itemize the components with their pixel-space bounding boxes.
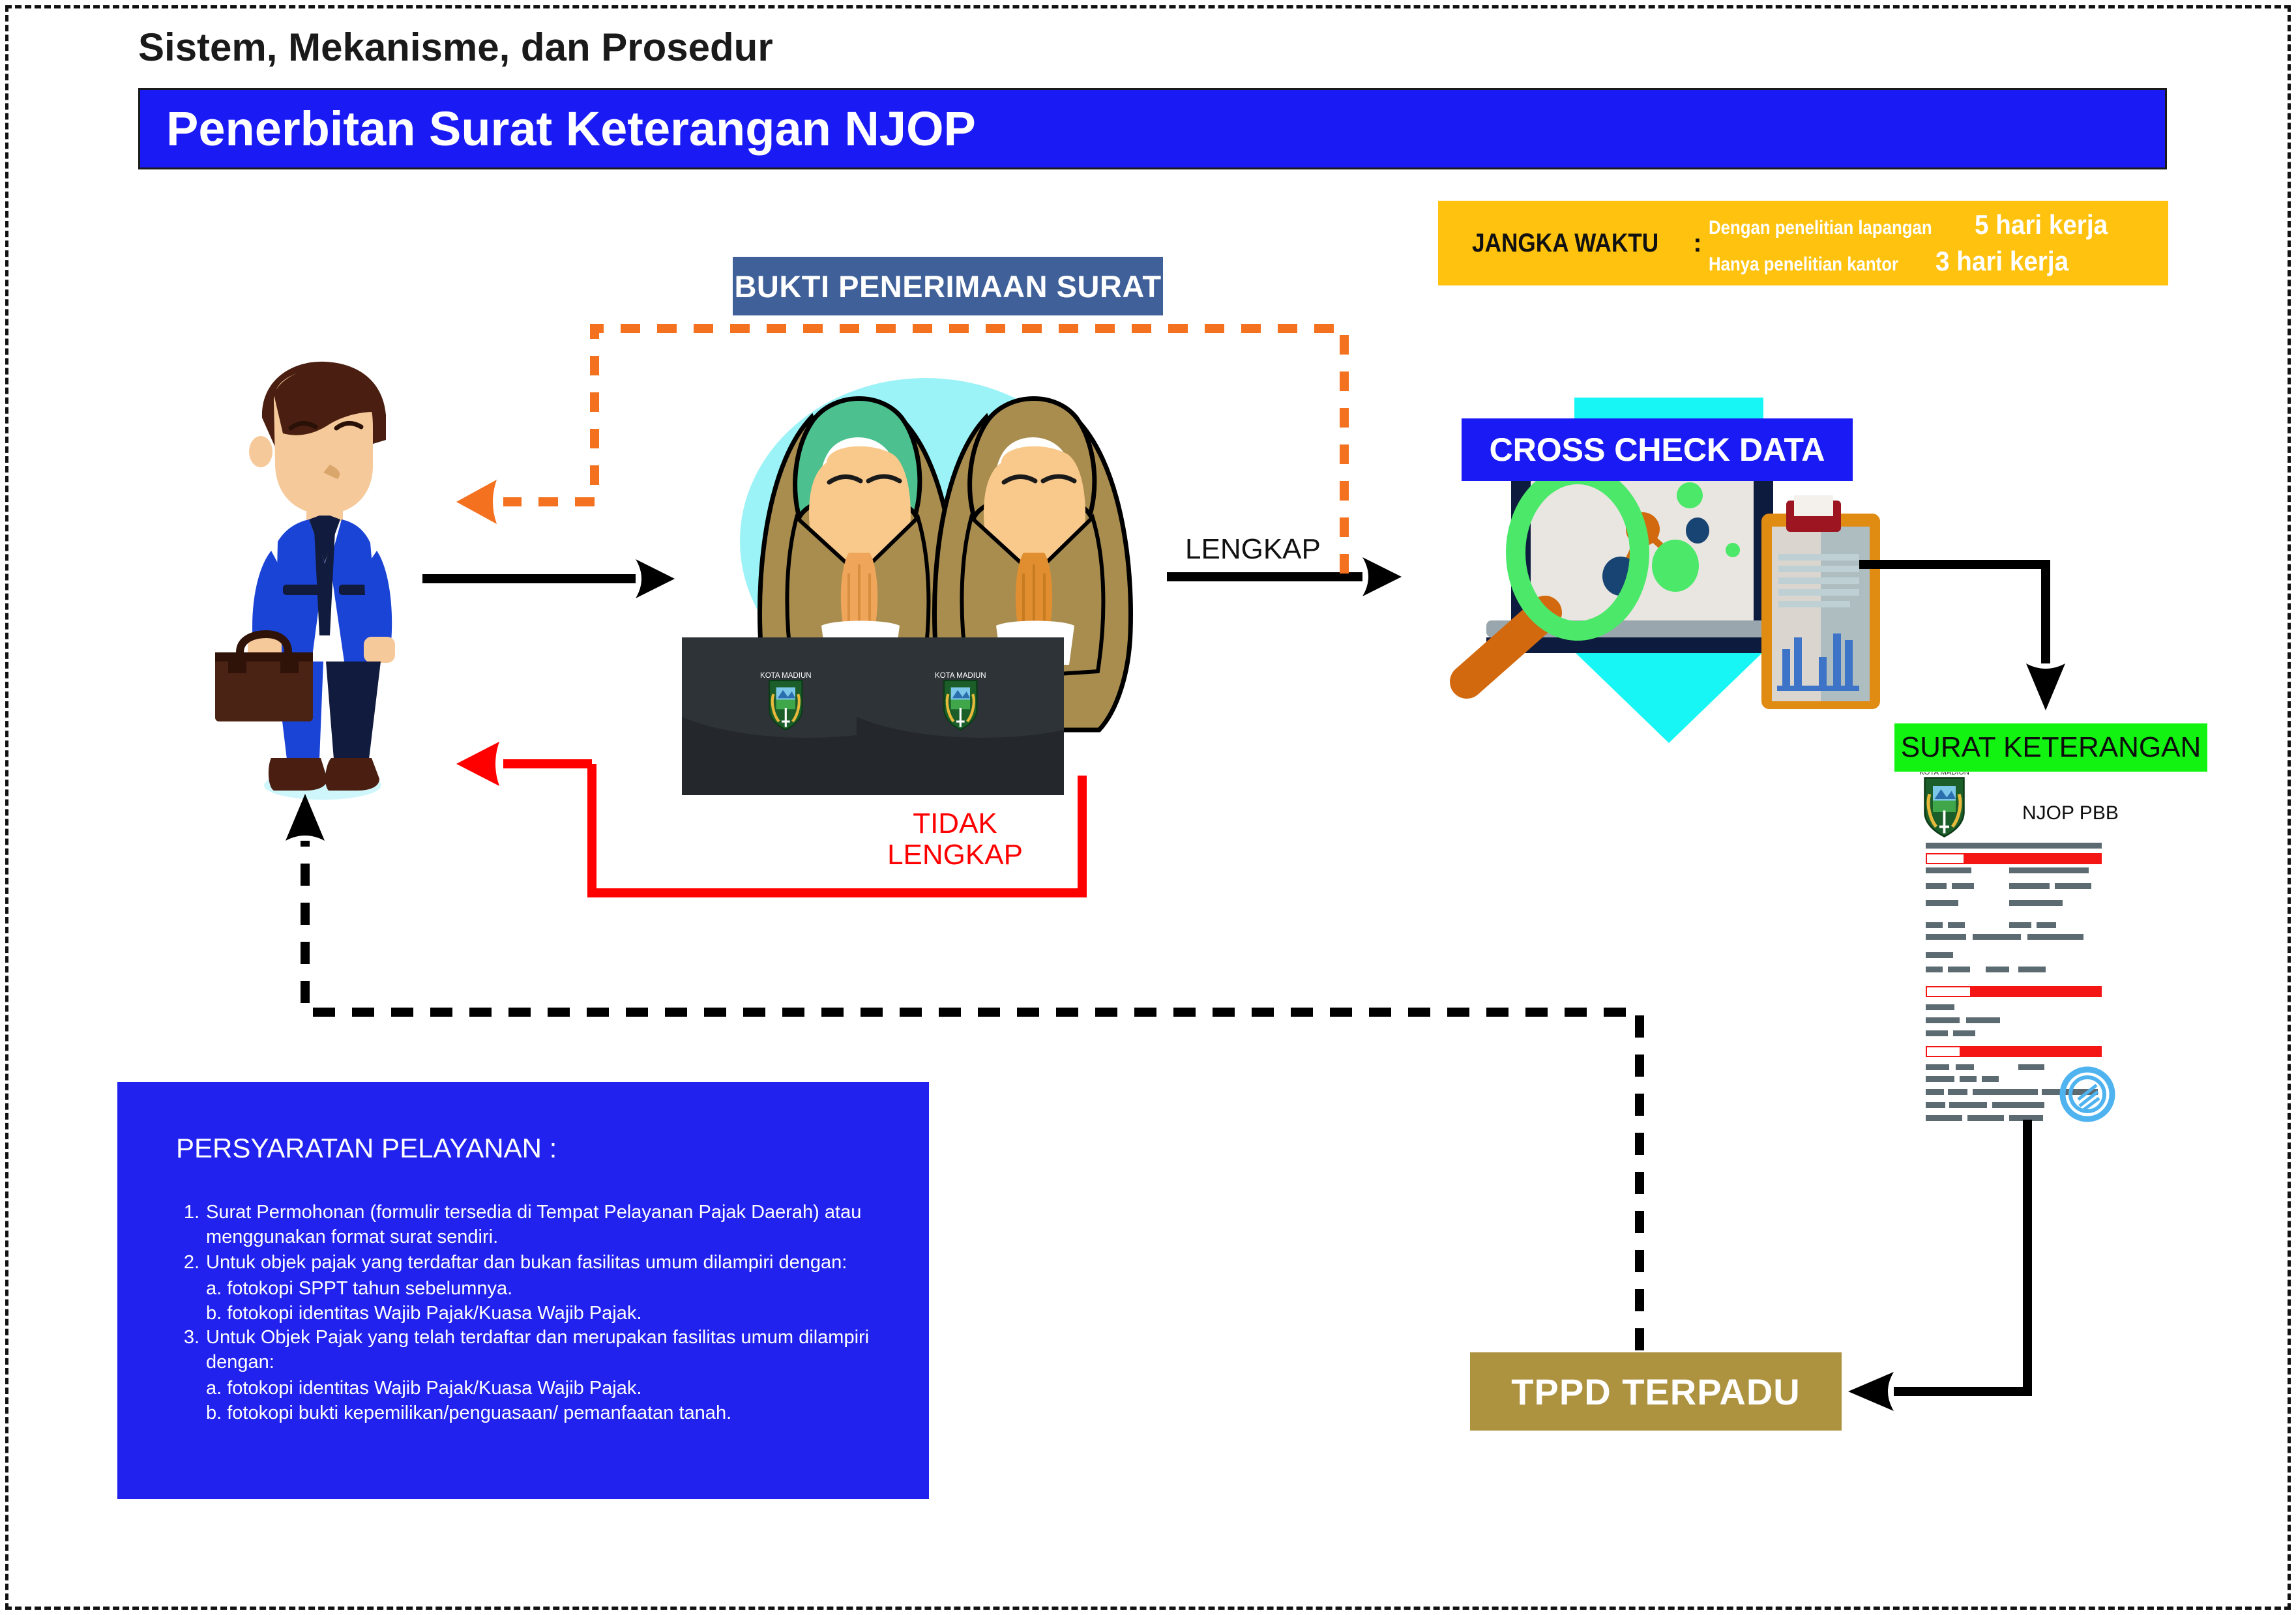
jangka-waktu-line-2: Hanya penelitian kantor 3 hari kerja <box>1709 246 2119 277</box>
jangka-waktu-lines: Dengan penelitian lapangan 5 hari kerja … <box>1709 209 2119 277</box>
arm-right <box>364 551 392 646</box>
svg-text:KOTA MADIUN: KOTA MADIUN <box>1919 772 1969 777</box>
list-subitem: a. fotokopi SPPT tahun sebelumnya. <box>206 1277 903 1302</box>
applicant-figure <box>215 355 430 805</box>
jangka-line1-big: 5 hari kerja <box>1975 209 2108 240</box>
badge-surat-keterangan: SURAT KETERANGAN <box>1894 723 2207 772</box>
list-item-text: Untuk objek pajak yang terdaftar dan buk… <box>206 1251 903 1275</box>
list-item-number: 3. <box>175 1326 199 1375</box>
page-subheading: Sistem, Mekanisme, dan Prosedur <box>138 25 773 70</box>
label-lengkap: LENGKAP <box>1185 533 1321 566</box>
arrow-surat-to-tppd <box>1848 1120 2027 1411</box>
label-tidak-line1: TIDAK <box>883 808 1027 839</box>
doc-text-lines <box>1926 843 2102 1121</box>
hand-right <box>364 637 395 663</box>
briefcase-latch-left <box>228 662 246 673</box>
jangka-line1-small: Dengan penelitian lapangan <box>1709 217 1932 239</box>
list-item-text: Untuk Objek Pajak yang telah terdaftar d… <box>206 1326 903 1375</box>
jangka-waktu-box: JANGKA WAKTU : Dengan penelitian lapanga… <box>1438 201 2168 285</box>
arrow-applicant-to-staff <box>422 559 675 598</box>
list-item: 2. Untuk objek pajak yang terdaftar dan … <box>175 1251 903 1275</box>
clipboard-icon <box>1761 495 1880 709</box>
list-item-number: 1. <box>175 1200 199 1249</box>
doc-emblem-kota-madiun: KOTA MADIUN <box>1919 772 1969 837</box>
box-tppd-terpadu: TPPD TERPADU <box>1470 1352 1842 1431</box>
list-item-text: Surat Permohonan (formulir tersedia di T… <box>206 1200 903 1249</box>
shoe-right <box>325 758 379 791</box>
chart-dot-green-3 <box>1652 540 1699 592</box>
page-title: Penerbitan Surat Keterangan NJOP <box>166 101 976 156</box>
list-item-number: 2. <box>175 1251 199 1275</box>
jangka-waktu-line-1: Dengan penelitian lapangan 5 hari kerja <box>1709 209 2119 240</box>
label-tidak-line2: LENGKAP <box>883 839 1027 871</box>
badge-bukti-label: BUKTI PENERIMAAN SURAT <box>734 269 1161 304</box>
infographic-page: Sistem, Mekanisme, dan Prosedur Penerbit… <box>0 0 2296 1615</box>
persyaratan-list: 1. Surat Permohonan (formulir tersedia d… <box>175 1200 903 1425</box>
svg-text:KOTA MADIUN: KOTA MADIUN <box>760 672 812 680</box>
badge-cross-label-under: CROSS CHECK DATA <box>1462 418 1853 481</box>
jangka-waktu-label: JANGKA WAKTU <box>1472 229 1658 258</box>
njop-pbb-document: KOTA MADIUN NJOP PBB <box>1910 772 2171 1137</box>
list-subitem: b. fotokopi bukti kepemilikan/penguasaan… <box>206 1401 903 1426</box>
chart-dot-green-1 <box>1677 482 1703 508</box>
doc-title: NJOP PBB <box>2022 802 2119 824</box>
pocket-left <box>283 585 322 595</box>
jangka-line2-small: Hanya penelitian kantor <box>1709 254 1898 276</box>
chart-dot-green-2 <box>1726 543 1740 557</box>
badge-surat-label: SURAT KETERANGAN <box>1901 731 2201 764</box>
arrow-tidak-lengkap-head <box>456 742 499 786</box>
shoe-left <box>269 758 327 791</box>
dashed-return-arrowhead <box>456 480 497 524</box>
badge-bukti-penerimaan-surat: BUKTI PENERIMAAN SURAT <box>733 257 1163 315</box>
jangka-line2-big: 3 hari kerja <box>1935 246 2068 277</box>
list-item: 1. Surat Permohonan (formulir tersedia d… <box>175 1200 903 1249</box>
briefcase-latch-right <box>280 662 299 673</box>
briefcase-top <box>215 652 313 662</box>
jangka-waktu-colon: : <box>1693 229 1701 258</box>
list-subitem: b. fotokopi identitas Wajib Pajak/Kuasa … <box>206 1302 903 1326</box>
arrow-crosscheck-to-surat <box>1859 564 2065 710</box>
badge-cross-check-data: CROSS CHECK DATA <box>1462 418 1853 481</box>
doc-stamp-icon <box>2063 1069 2112 1119</box>
box-tppd-label: TPPD TERPADU <box>1511 1371 1800 1413</box>
list-item: 3. Untuk Objek Pajak yang telah terdafta… <box>175 1326 903 1375</box>
persyaratan-pelayanan-box: PERSYARATAN PELAYANAN : 1. Surat Permoho… <box>117 1082 929 1499</box>
page-title-bar: Penerbitan Surat Keterangan NJOP <box>138 88 2167 169</box>
svg-text:KOTA MADIUN: KOTA MADIUN <box>935 672 986 680</box>
persyaratan-heading: PERSYARATAN PELAYANAN : <box>176 1133 557 1164</box>
chart-dot-navy-1 <box>1686 517 1709 544</box>
leg-right <box>326 662 381 759</box>
list-subitem: a. fotokopi identitas Wajib Pajak/Kuasa … <box>206 1376 903 1401</box>
staff-figures-group: KOTA MADIUN <box>639 378 1226 795</box>
ear-icon <box>249 436 272 467</box>
label-tidak-lengkap: TIDAK LENGKAP <box>883 808 1027 871</box>
